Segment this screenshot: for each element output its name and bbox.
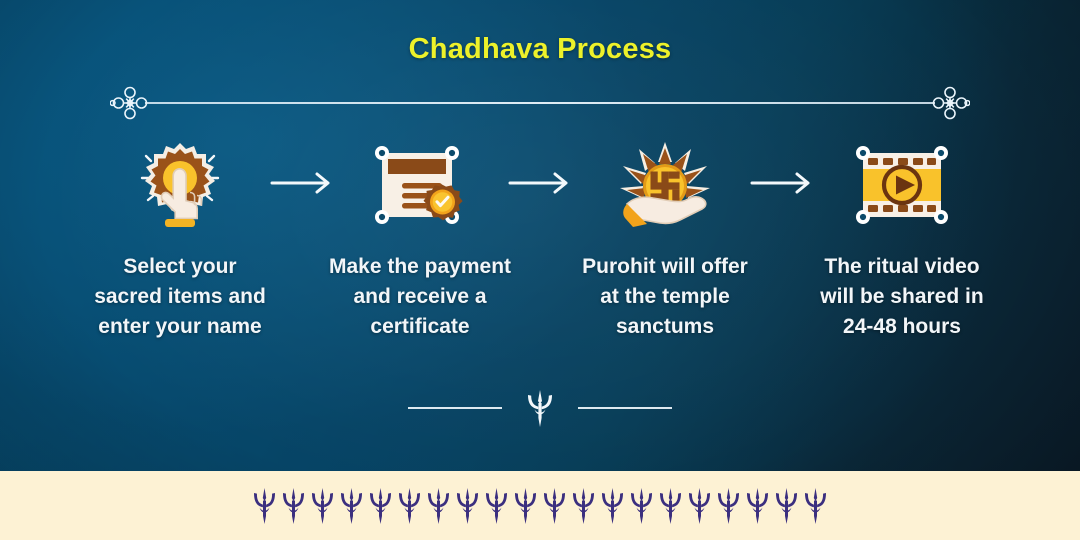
trishul-icon: [715, 487, 742, 525]
caption-line: sanctums: [545, 312, 785, 342]
footer-band: [0, 471, 1080, 540]
trishul-icon: [524, 388, 556, 428]
arrow-right-icon: [270, 170, 336, 196]
trishul-icon: [280, 487, 307, 525]
trishul-icon: [657, 487, 684, 525]
trishul-icon: [773, 487, 800, 525]
trishul-icon: [251, 487, 278, 525]
trishul-icon: [396, 487, 423, 525]
knot-ornament-icon: [110, 86, 150, 120]
step-3-caption: Purohit will offer at the temple sanctum…: [545, 252, 785, 342]
step-4-icon-wrap: [782, 136, 1022, 240]
caption-line: Make the payment: [300, 252, 540, 282]
trishul-icon: [744, 487, 771, 525]
chadhava-process-poster: Chadhava Process: [0, 0, 1080, 540]
trishul-icon: [512, 487, 539, 525]
caption-line: enter your name: [60, 312, 300, 342]
step-3-icon-wrap: [545, 136, 785, 240]
caption-line: Select your: [60, 252, 300, 282]
hand-offering-swastika-coin-icon: [615, 140, 715, 236]
trishul-icon: [599, 487, 626, 525]
divider-line: [408, 407, 502, 409]
process-steps: Select your sacred items and enter your …: [0, 136, 1080, 356]
caption-line: The ritual video: [782, 252, 1022, 282]
trishul-icon: [483, 487, 510, 525]
step-1-caption: Select your sacred items and enter your …: [60, 252, 300, 342]
step-2-caption: Make the payment and receive a certifica…: [300, 252, 540, 342]
trishul-icon: [309, 487, 336, 525]
arrow-right-icon: [750, 170, 816, 196]
divider-line: [145, 102, 935, 104]
caption-line: at the temple: [545, 282, 785, 312]
page-title: Chadhava Process: [0, 33, 1080, 66]
hand-tap-flower-icon: [128, 136, 232, 240]
caption-line: and receive a: [300, 282, 540, 312]
trishul-icon: [686, 487, 713, 525]
process-step-1: Select your sacred items and enter your …: [60, 136, 300, 342]
process-step-3: Purohit will offer at the temple sanctum…: [545, 136, 785, 342]
trishul-icon: [454, 487, 481, 525]
step-2-icon-wrap: [300, 136, 540, 240]
step-4-caption: The ritual video will be shared in 24-48…: [782, 252, 1022, 342]
top-divider: [118, 86, 962, 120]
process-step-2: Make the payment and receive a certifica…: [300, 136, 540, 342]
trishul-icon: [425, 487, 452, 525]
caption-line: Purohit will offer: [545, 252, 785, 282]
trishul-icon: [802, 487, 829, 525]
caption-line: certificate: [300, 312, 540, 342]
trishul-icon: [570, 487, 597, 525]
film-strip-play-icon: [853, 143, 951, 233]
caption-line: 24-48 hours: [782, 312, 1022, 342]
certificate-seal-icon: [371, 143, 469, 233]
process-step-4: The ritual video will be shared in 24-48…: [782, 136, 1022, 342]
divider-line: [578, 407, 672, 409]
arrow-right-icon: [508, 170, 574, 196]
trishul-icon: [628, 487, 655, 525]
footer-trishul-row: [0, 471, 1080, 540]
step-1-icon-wrap: [60, 136, 300, 240]
caption-line: sacred items and: [60, 282, 300, 312]
trishul-icon: [367, 487, 394, 525]
trishul-icon: [338, 487, 365, 525]
bottom-divider: [405, 388, 675, 428]
knot-ornament-icon: [930, 86, 970, 120]
trishul-icon: [541, 487, 568, 525]
caption-line: will be shared in: [782, 282, 1022, 312]
